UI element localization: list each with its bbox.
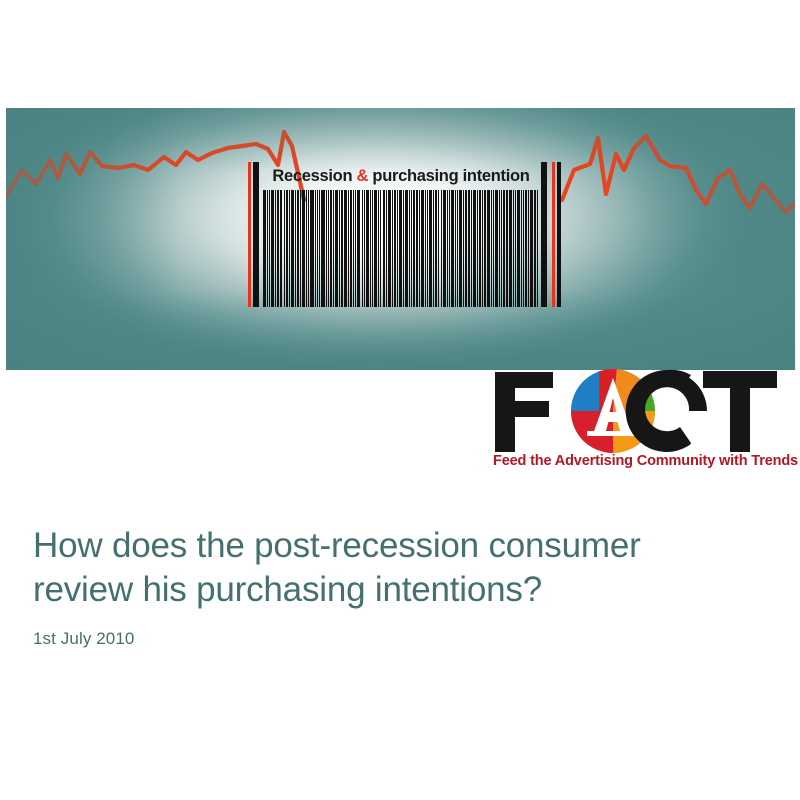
barcode-bar	[443, 190, 446, 307]
fact-logo-tagline: Feed the Advertising Community with Tren…	[493, 453, 795, 469]
barcode-bar	[295, 190, 296, 307]
barcode-bar	[477, 190, 478, 307]
barcode-bar	[451, 190, 454, 307]
barcode-bar	[374, 190, 377, 307]
barcode-bar	[534, 190, 536, 307]
logo-letter-f	[495, 372, 553, 452]
barcode-bar	[491, 190, 492, 307]
barcode-bar	[409, 190, 410, 307]
barcode-bar	[378, 190, 380, 307]
barcode-bar	[419, 190, 420, 307]
barcode-bar	[291, 190, 294, 307]
barcode-bar	[468, 190, 470, 307]
barcode-bar	[447, 190, 448, 307]
page-title: How does the post-recession consumer rev…	[33, 524, 763, 612]
barcode-bar	[495, 190, 498, 307]
fact-logo: Feed the Advertising Community with Tren…	[491, 368, 795, 478]
barcode-bar	[513, 190, 514, 307]
barcode-bar	[465, 190, 468, 307]
barcode-bar	[308, 190, 309, 307]
barcode-bar	[328, 190, 329, 307]
barcode-bar	[441, 190, 443, 307]
barcode-bar	[357, 190, 360, 307]
barcode-bar	[386, 190, 387, 307]
barcode-red-rule-right	[552, 162, 555, 307]
barcode-bar	[493, 190, 495, 307]
barcode-bar	[509, 190, 512, 307]
barcode-bar	[438, 190, 439, 307]
barcode-bar	[484, 190, 486, 307]
barcode-bar	[399, 190, 402, 307]
barcode-guard-bar-edge	[557, 162, 561, 307]
barcode-bar	[473, 190, 476, 307]
barcode-bar	[275, 190, 276, 307]
barcode-bar	[471, 190, 472, 307]
barcode-label-ampersand: &	[357, 167, 369, 185]
barcode-bar	[421, 190, 424, 307]
barcode-bar	[277, 190, 279, 307]
barcode-bar	[411, 190, 412, 307]
barcode-bar	[289, 190, 291, 307]
fact-logo-mark	[491, 368, 795, 454]
barcode-bar	[425, 190, 426, 307]
barcode-bar	[321, 190, 324, 307]
barcode-bar	[499, 190, 500, 307]
barcode-bar	[501, 190, 502, 307]
barcode-bar	[427, 190, 429, 307]
barcode-bar	[487, 190, 490, 307]
barcode-bar	[350, 190, 352, 307]
barcode-bar	[416, 190, 418, 307]
barcode-bar	[355, 190, 357, 307]
barcode-bar	[525, 190, 527, 307]
barcode-bar	[449, 190, 450, 307]
barcode-bar	[326, 190, 328, 307]
barcode-bar	[364, 190, 366, 307]
barcode-bar	[263, 190, 266, 307]
barcode-bar	[330, 190, 332, 307]
barcode-bar	[403, 190, 405, 307]
barcode-bar	[503, 190, 505, 307]
barcode-bar	[433, 190, 434, 307]
logo-letter-t	[703, 371, 777, 452]
barcode-bar	[271, 190, 274, 307]
barcode-bar	[506, 190, 508, 307]
barcode-bar	[517, 190, 520, 307]
barcode-bar	[284, 190, 285, 307]
barcode-bar	[455, 190, 457, 307]
barcode-red-rule-left	[248, 162, 251, 307]
barcode-bar	[370, 190, 371, 307]
slide-date: 1st July 2010	[33, 628, 763, 650]
barcode-bar	[300, 190, 301, 307]
barcode-bar	[317, 190, 319, 307]
barcode-bar	[380, 190, 381, 307]
page-title-line-2: review his purchasing intentions?	[33, 570, 542, 609]
barcode-bar	[523, 190, 524, 307]
barcode-bar	[319, 190, 320, 307]
barcode-bar	[366, 190, 369, 307]
barcode-bar	[482, 190, 483, 307]
barcode-bar	[429, 190, 432, 307]
barcode-bar	[435, 190, 437, 307]
barcode-guard-bar-right	[541, 162, 547, 307]
barcode-bar	[515, 190, 516, 307]
barcode-graphic: Recession & purchasing intention	[244, 162, 564, 307]
barcode-bar	[457, 190, 458, 307]
barcode-label: Recession & purchasing intention	[263, 163, 539, 189]
barcode-bar	[521, 190, 523, 307]
barcode-bar	[397, 190, 398, 307]
barcode-label-suffix: purchasing intention	[368, 167, 529, 185]
trend-line-right	[562, 136, 795, 212]
page-title-line-1: How does the post-recession consumer	[33, 526, 641, 565]
barcode-bars	[263, 190, 539, 307]
barcode-bar	[394, 190, 396, 307]
barcode-bar	[306, 190, 308, 307]
barcode-bar	[280, 190, 283, 307]
barcode-bar	[459, 190, 461, 307]
barcode-bar	[344, 190, 347, 307]
barcode-bar	[302, 190, 305, 307]
barcode-bar	[537, 190, 538, 307]
title-block: How does the post-recession consumer rev…	[33, 524, 763, 650]
barcode-bar	[388, 190, 392, 307]
barcode-bar	[479, 190, 481, 307]
barcode-guard-bar-left	[253, 162, 259, 307]
barcode-bar	[339, 190, 341, 307]
recession-banner: Recession & purchasing intention	[6, 108, 795, 370]
title-slide: Recession & purchasing intention	[0, 0, 800, 800]
barcode-bar	[405, 190, 408, 307]
barcode-bar	[315, 190, 316, 307]
barcode-bar	[341, 190, 342, 307]
barcode-bar	[530, 190, 533, 307]
barcode-bar	[528, 190, 529, 307]
barcode-bar	[333, 190, 334, 307]
barcode-bar	[463, 190, 464, 307]
barcode-bar	[286, 190, 288, 307]
barcode-bar	[267, 190, 269, 307]
barcode-bar	[297, 190, 299, 307]
logo-a-base-gap	[587, 431, 639, 436]
barcode-label-prefix: Recession	[272, 167, 356, 185]
barcode-bar	[310, 190, 314, 307]
barcode-bar	[372, 190, 373, 307]
barcode-bar	[413, 190, 415, 307]
barcode-bar	[269, 190, 270, 307]
barcode-bar	[362, 190, 363, 307]
barcode-bar	[392, 190, 393, 307]
barcode-bar	[383, 190, 385, 307]
barcode-bar	[335, 190, 338, 307]
barcode-bar	[348, 190, 349, 307]
barcode-bar	[353, 190, 354, 307]
